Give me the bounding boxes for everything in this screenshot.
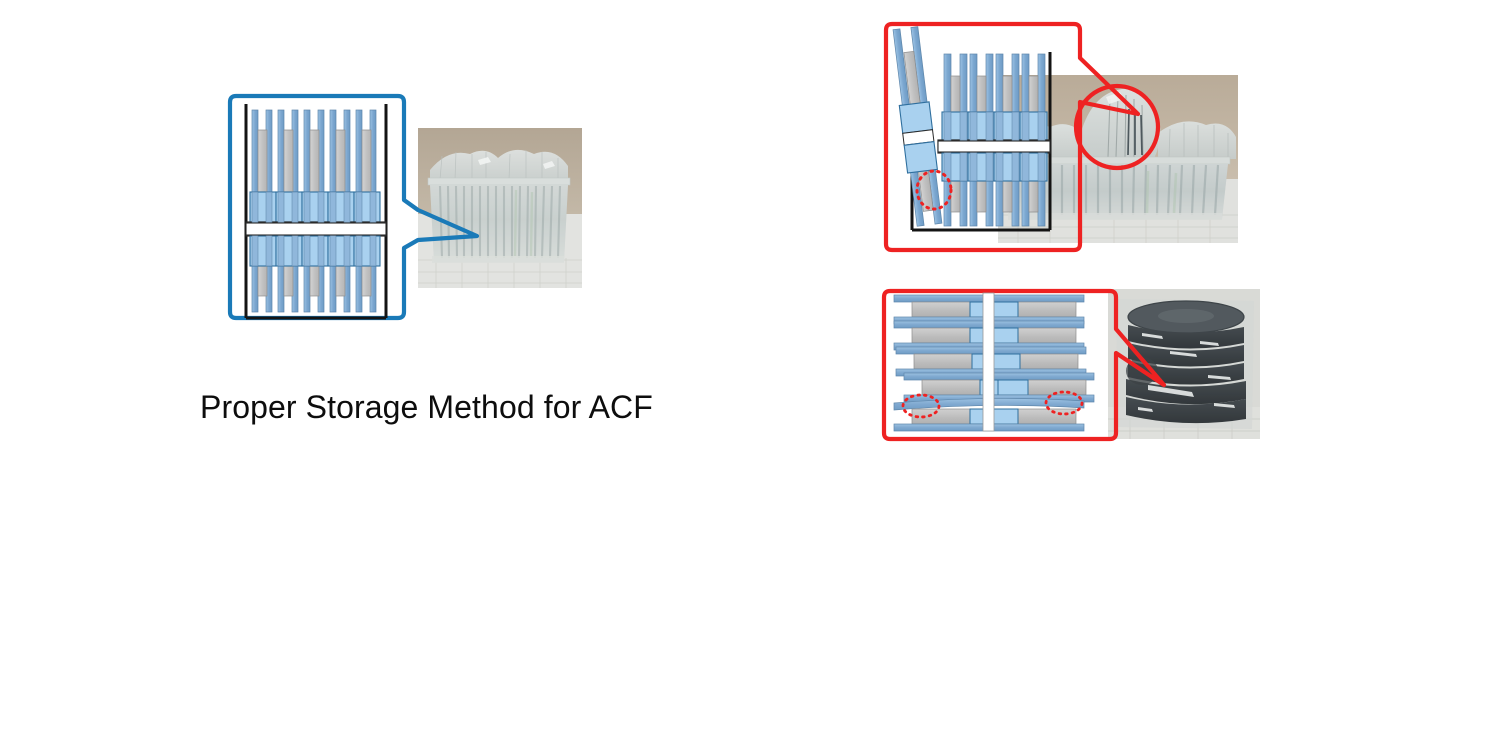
clamp-band-row-lower: [942, 153, 1047, 181]
center-hub-column: [983, 293, 994, 431]
page-title: Proper Storage Method for ACF: [200, 390, 630, 425]
clamp-band-row-upper: [942, 112, 1047, 140]
left-panel-proper-storage: Proper Storage Method for ACF: [0, 0, 660, 460]
incorrect-clamped-diagram: [890, 24, 1066, 248]
center-divider-band-front: [246, 223, 386, 235]
panel-incorrect-storage-clamped: Incorrect Storage Method for ACF (Reels …: [860, 0, 1420, 285]
incorrect-flat-stacked-diagram: [888, 293, 1100, 431]
panel-incorrect-storage-flat-stacked: Incorrect Storage Method for ACF (Reels …: [860, 280, 1460, 480]
proper-storage-diagram: [236, 96, 396, 332]
illustration-canvas: Proper Storage Method for ACF: [0, 0, 1500, 500]
